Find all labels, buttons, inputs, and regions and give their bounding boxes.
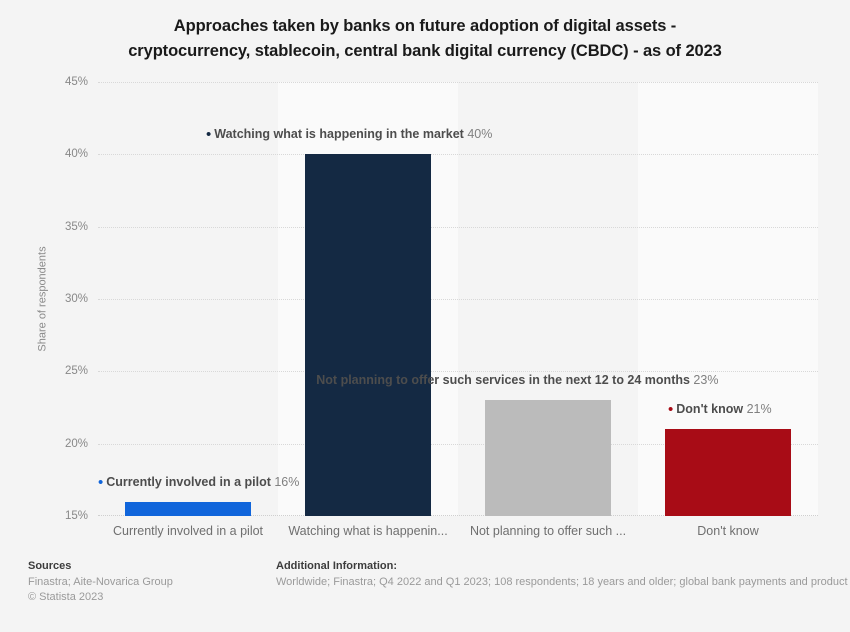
grid-line bbox=[98, 299, 818, 300]
y-axis-tick-label: 15% bbox=[65, 510, 88, 522]
data-label-category: Currently involved in a pilot bbox=[106, 475, 274, 489]
data-label: •Watching what is happening in the marke… bbox=[206, 127, 492, 141]
chart-title-line-1: Approaches taken by banks on future adop… bbox=[174, 17, 676, 35]
data-label-value: 40% bbox=[467, 127, 492, 141]
sources-line: Finastra; Aite-Novarica Group bbox=[28, 575, 173, 591]
data-label-category: Watching what is happening in the market bbox=[214, 127, 467, 141]
data-label-bullet-icon: • bbox=[206, 126, 211, 143]
data-label: •Currently involved in a pilot 16% bbox=[98, 475, 299, 489]
chart-title: Approaches taken by banks on future adop… bbox=[60, 14, 790, 64]
data-label-bullet-icon: • bbox=[98, 474, 103, 491]
data-label-bullet-icon: • bbox=[308, 372, 313, 389]
chart-title-line-2: cryptocurrency, stablecoin, central bank… bbox=[128, 42, 722, 60]
statista-chart-card: Approaches taken by banks on future adop… bbox=[0, 0, 850, 632]
x-axis-tick-label: Don't know bbox=[697, 524, 758, 538]
y-axis-tick-label: 20% bbox=[65, 438, 88, 450]
bar[interactable] bbox=[665, 429, 791, 516]
grid-line bbox=[98, 227, 818, 228]
copyright-line: © Statista 2023 bbox=[28, 590, 173, 606]
y-axis-tick-label: 45% bbox=[65, 76, 88, 88]
sources-block: Sources Finastra; Aite-Novarica Group © … bbox=[28, 559, 173, 606]
data-label-category: Don't know bbox=[676, 402, 746, 416]
data-label-value: 21% bbox=[747, 402, 772, 416]
additional-information-line: Worldwide; Finastra; Q4 2022 and Q1 2023… bbox=[276, 575, 850, 591]
sources-heading: Sources bbox=[28, 559, 173, 575]
x-axis-tick-label: Not planning to offer such ... bbox=[470, 524, 626, 538]
y-axis-tick-label: 30% bbox=[65, 293, 88, 305]
x-axis-tick-label: Watching what is happenin... bbox=[288, 524, 447, 538]
bar[interactable] bbox=[485, 400, 611, 516]
data-label-category: Not planning to offer such services in t… bbox=[316, 373, 693, 387]
bar[interactable] bbox=[125, 502, 251, 516]
y-axis-tick-label: 25% bbox=[65, 365, 88, 377]
y-axis-tick-label: 40% bbox=[65, 148, 88, 160]
data-label-value: 16% bbox=[274, 475, 299, 489]
y-axis-title: Share of respondents bbox=[36, 82, 50, 516]
x-axis: Currently involved in a pilotWatching wh… bbox=[98, 524, 818, 542]
data-label: •Not planning to offer such services in … bbox=[308, 373, 718, 387]
x-axis-tick-label: Currently involved in a pilot bbox=[113, 524, 263, 538]
data-label-bullet-icon: • bbox=[668, 401, 673, 418]
bar[interactable] bbox=[305, 154, 431, 516]
grid-line bbox=[98, 371, 818, 372]
plot-area: 45%40%35%30%25%20%15%•Currently involved… bbox=[98, 82, 818, 516]
grid-line bbox=[98, 82, 818, 83]
additional-information-heading: Additional Information: bbox=[276, 559, 850, 575]
additional-information-block: Additional Information: Worldwide; Finas… bbox=[276, 559, 850, 590]
data-label: •Don't know 21% bbox=[668, 402, 772, 416]
y-axis-tick-label: 35% bbox=[65, 221, 88, 233]
data-label-value: 23% bbox=[693, 373, 718, 387]
grid-line bbox=[98, 154, 818, 155]
